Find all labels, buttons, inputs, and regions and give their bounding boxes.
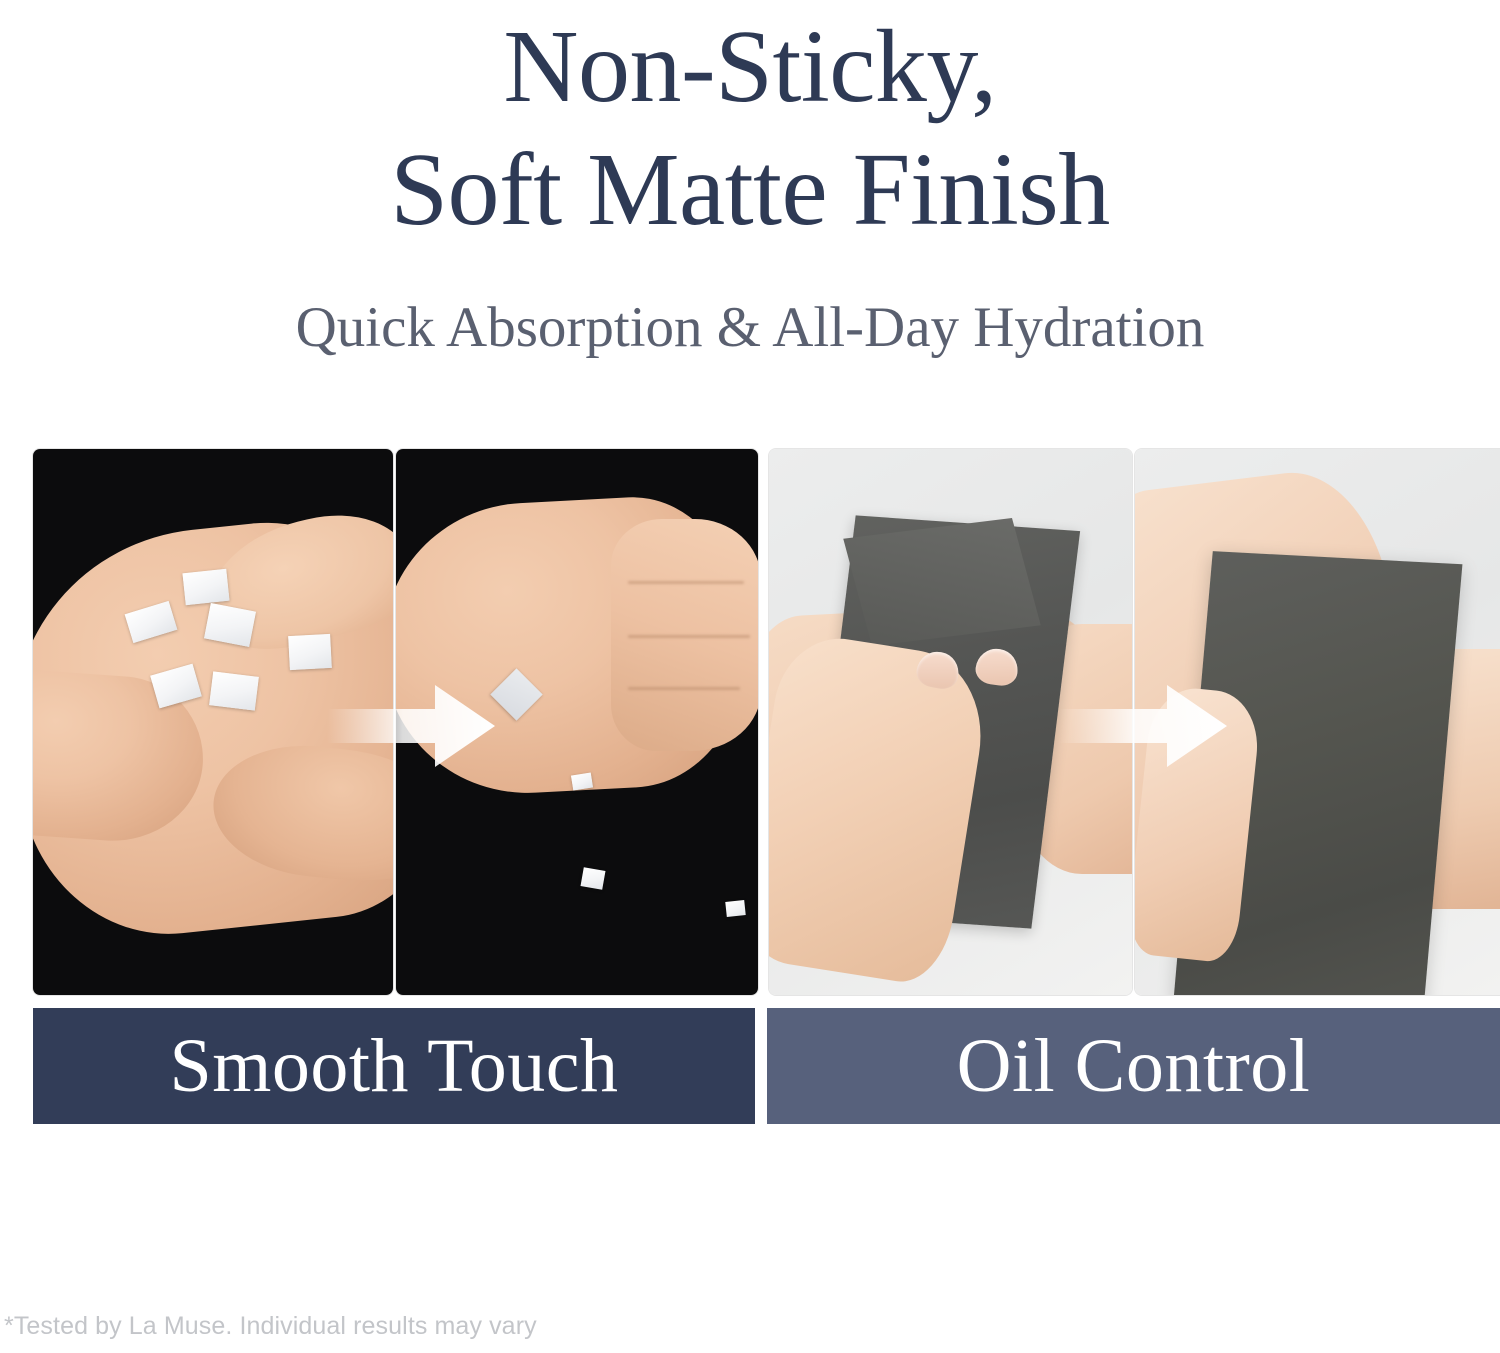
paper-square-falling: [581, 867, 606, 890]
panel-pair-oil-control: [769, 449, 1500, 995]
finger-crease: [628, 635, 750, 638]
paper-square: [182, 569, 229, 605]
paper-square: [288, 634, 332, 670]
panel-smooth-touch-after: [396, 449, 758, 995]
finger-crease: [628, 581, 744, 584]
finger-crease: [628, 687, 740, 690]
panel-smooth-touch-before: [33, 449, 393, 995]
header-block: Non-Sticky, Soft Matte Finish Quick Abso…: [0, 0, 1500, 360]
comparison-panel-grid: [0, 449, 1500, 995]
page-subtitle: Quick Absorption & All-Day Hydration: [0, 251, 1500, 360]
page-title: Non-Sticky, Soft Matte Finish: [0, 6, 1500, 251]
panel-oil-control-after: [1135, 449, 1500, 995]
panel-oil-control-before: [769, 449, 1132, 995]
panel-pair-smooth-touch: [33, 449, 758, 995]
caption-oil-control: Oil Control: [767, 1008, 1500, 1124]
caption-bar-row: Smooth Touch Oil Control: [0, 1008, 1500, 1124]
paper-square-falling: [725, 900, 745, 917]
blotting-paper-fold: [843, 518, 1040, 646]
disclaimer-footnote: *Tested by La Muse. Individual results m…: [4, 1312, 537, 1341]
paper-square: [209, 671, 259, 710]
paper-square-falling: [571, 773, 593, 791]
caption-smooth-touch: Smooth Touch: [33, 1008, 755, 1124]
